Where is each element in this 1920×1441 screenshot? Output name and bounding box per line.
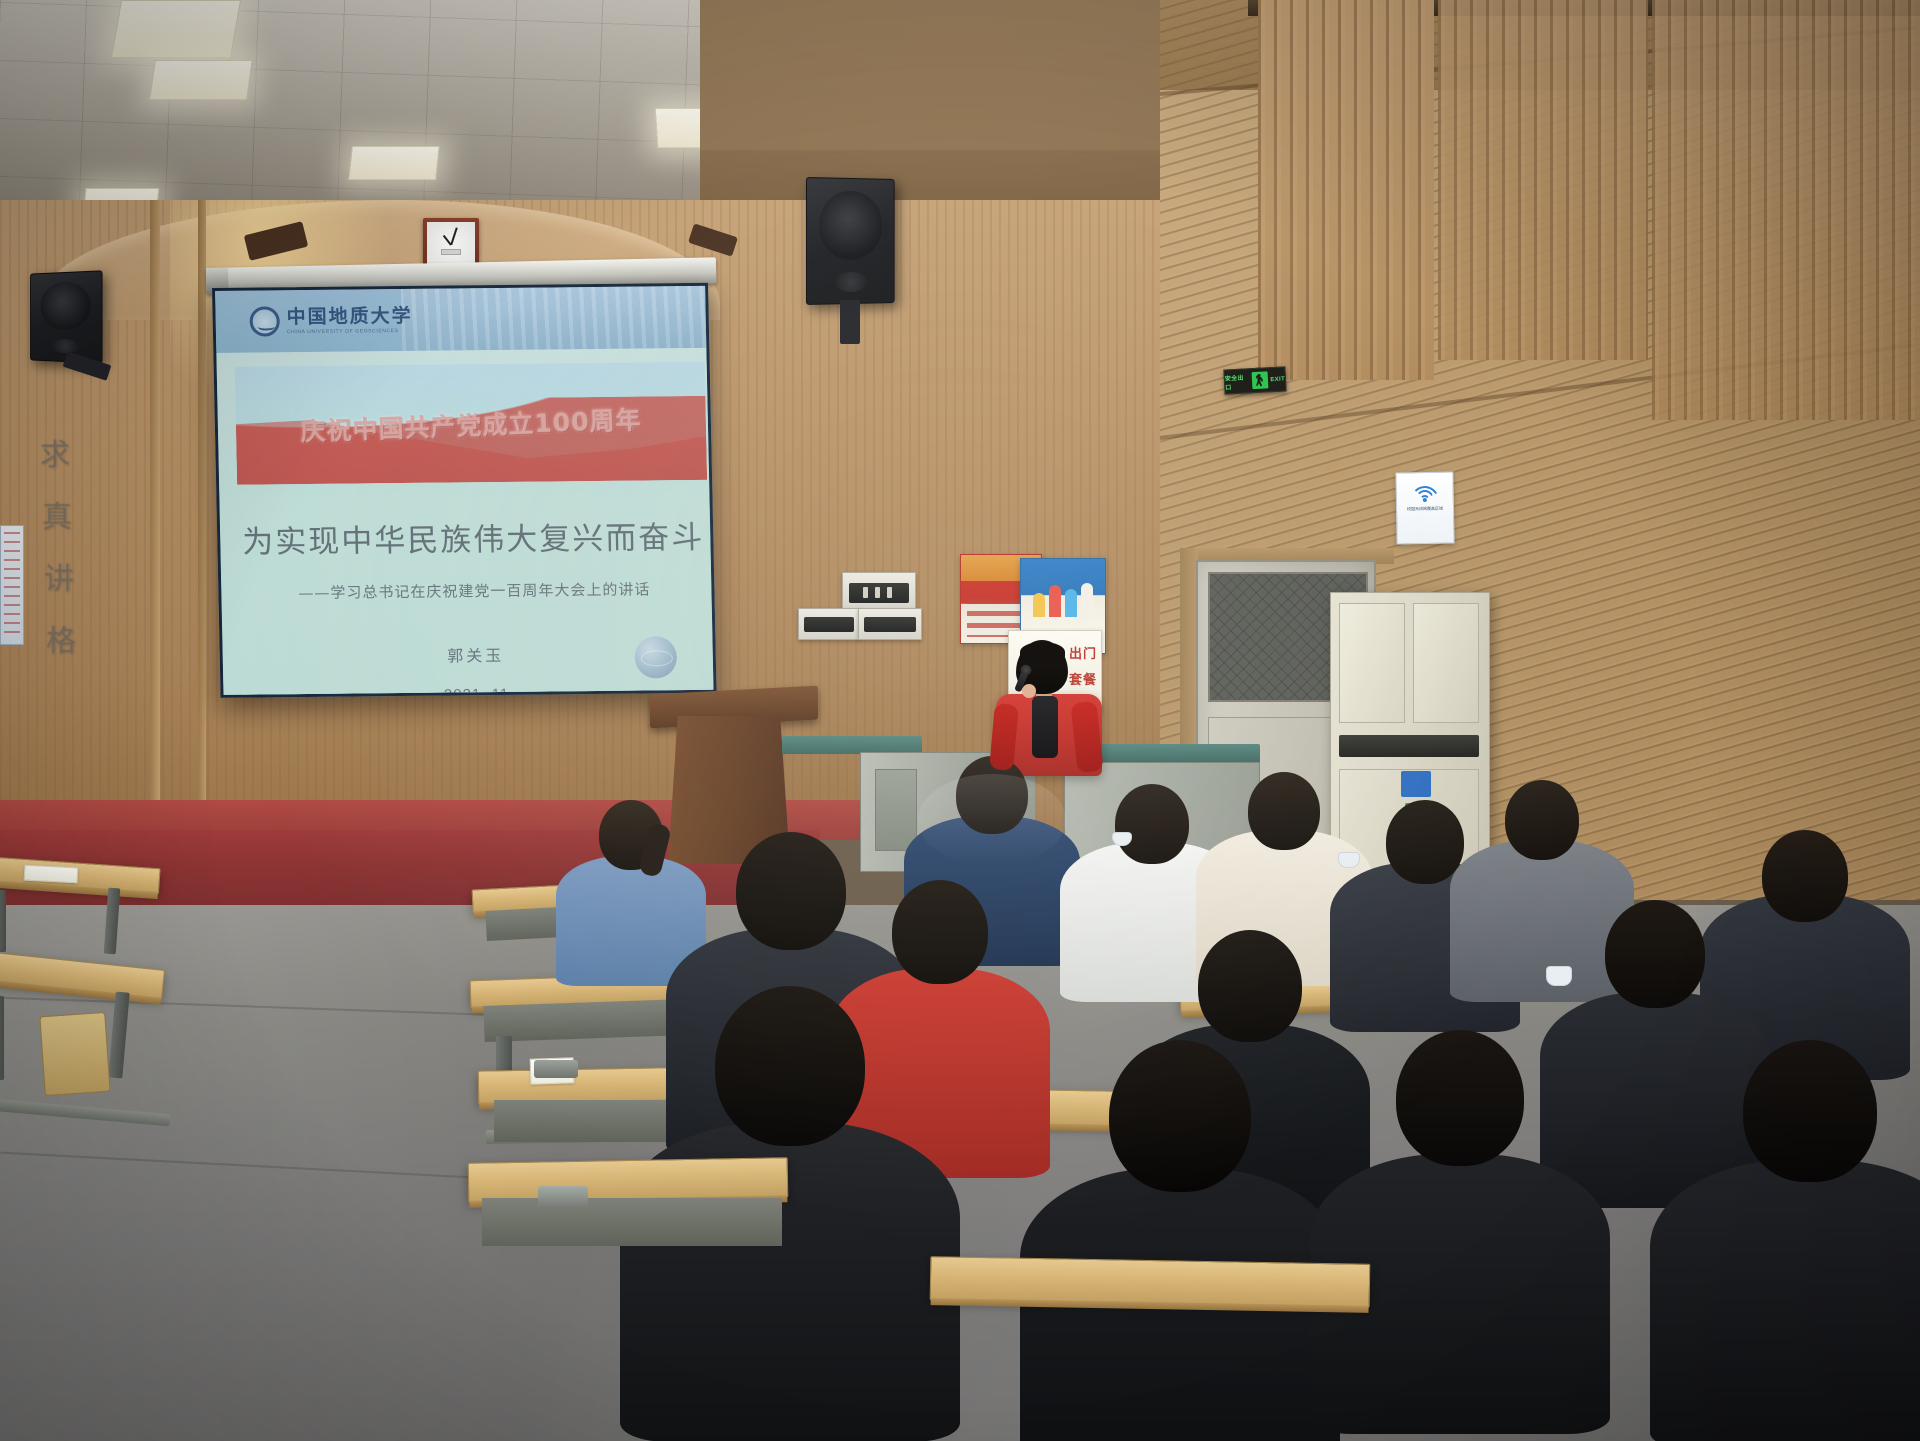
cabinet-door-right[interactable] — [1413, 603, 1479, 723]
exit-sign-label-en: EXIT — [1270, 376, 1285, 383]
poster-figure — [1081, 583, 1093, 617]
chair-backrest[interactable] — [39, 1012, 110, 1096]
projection-screen: 中国地质大学 CHINA UNIVERSITY OF GEOSCIENCES 庆… — [212, 283, 717, 698]
face-mask — [1546, 966, 1572, 986]
audience-member — [1310, 1030, 1610, 1441]
loudspeaker-right — [806, 177, 895, 305]
person-head — [1762, 830, 1848, 922]
slide-subtitle: ——学习总书记在庆祝建党一百周年大会上的讲话 — [239, 578, 709, 604]
ceiling-light — [149, 60, 253, 100]
slide-content-area: 庆祝中国共产党成立100周年 为实现中华民族伟大复兴而奋斗 ——学习总书记在庆祝… — [235, 362, 712, 698]
desk-leg — [0, 996, 4, 1080]
wall-calligraphy-char: 格 — [46, 616, 76, 660]
university-logo-text: 中国地质大学 CHINA UNIVERSITY OF GEOSCIENCES — [286, 306, 413, 334]
exit-sign-label-cn: 安全出口 — [1225, 372, 1251, 391]
person-head — [1743, 1040, 1877, 1182]
person-head — [1505, 780, 1579, 860]
wifi-coverage-poster: 校园无线网覆盖区域 — [1395, 471, 1454, 544]
person-head — [1605, 900, 1705, 1008]
electrical-panel-right — [858, 608, 922, 640]
slide-main-title: 为实现中华民族伟大复兴而奋斗 — [238, 512, 709, 562]
desk-leg — [0, 890, 6, 952]
poster-blue-figures — [1029, 571, 1097, 617]
breaker-switch — [875, 587, 880, 598]
breaker-switch — [887, 587, 892, 598]
university-logo: 中国地质大学 CHINA UNIVERSITY OF GEOSCIENCES — [249, 305, 413, 337]
person-head — [1198, 930, 1302, 1042]
person-head — [1248, 772, 1320, 850]
emergency-exit-sign: 安全出口 EXIT — [1223, 366, 1286, 394]
university-logo-mark-icon — [249, 306, 280, 336]
poster-figure — [1049, 585, 1061, 617]
audience-member — [1020, 1040, 1340, 1441]
notice-board-lines — [4, 532, 20, 638]
notice-board — [0, 525, 24, 645]
person-head — [1115, 784, 1189, 864]
desk-understructure — [482, 1198, 782, 1246]
cabinet-vent-slot — [1339, 735, 1479, 757]
desk-paper — [24, 865, 79, 884]
globe-graphic-icon — [634, 636, 677, 678]
wall-calligraphy-char: 讲 — [44, 554, 74, 598]
wall-trim — [198, 200, 206, 840]
electrical-panel-upper — [842, 572, 916, 612]
person-head — [1109, 1040, 1251, 1192]
audience-member — [1650, 1040, 1920, 1441]
desk-hook — [538, 1186, 588, 1208]
slide-body: 庆祝中国共产党成立100周年 为实现中华民族伟大复兴而奋斗 ——学习总书记在庆祝… — [216, 348, 713, 698]
wall-calligraphy-char: 求 — [40, 430, 70, 474]
breaker-switch — [863, 587, 868, 598]
wall-calligraphy-char: 真 — [42, 492, 72, 536]
university-name-en: CHINA UNIVERSITY OF GEOSCIENCES — [287, 328, 413, 334]
slide-header-band: 中国地质大学 CHINA UNIVERSITY OF GEOSCIENCES — [215, 286, 706, 353]
wifi-dot — [1423, 498, 1427, 502]
ceiling-light — [348, 146, 440, 180]
person-head — [715, 986, 865, 1146]
running-man-exit-icon — [1251, 371, 1269, 389]
cabinet-door-left[interactable] — [1339, 603, 1405, 723]
electrical-panel-left — [798, 608, 860, 640]
face-mask — [1338, 852, 1360, 868]
wall-trim — [150, 200, 160, 840]
person-torso — [1650, 1160, 1920, 1441]
clock-minute-hand — [450, 227, 457, 245]
person-head — [892, 880, 988, 984]
electrical-panel-window — [804, 617, 854, 633]
window-curtain — [1258, 0, 1434, 380]
lecture-hall-photo: 求 真 讲 格 中国地质大学 CHINA UNIVERSITY OF G — [0, 0, 1920, 1441]
desk-hook — [534, 1060, 578, 1078]
cabinet-badge-blue — [1401, 771, 1431, 797]
poster-figure — [1065, 589, 1077, 617]
wifi-poster-label: 校园无线网覆盖区域 — [1407, 506, 1443, 513]
presenter-speaker — [990, 640, 1120, 775]
university-name-cn: 中国地质大学 — [286, 306, 412, 326]
clock-subdial — [441, 249, 461, 255]
desk-row-front — [468, 1157, 789, 1203]
person-highlight — [918, 774, 1066, 866]
clock-face — [427, 222, 475, 266]
presenter-hand — [1022, 684, 1036, 698]
speaker-bracket — [840, 300, 860, 344]
electrical-panel-window — [864, 617, 916, 633]
slide-header-photo — [401, 286, 706, 351]
poster-figure — [1033, 593, 1045, 617]
ceiling-light — [111, 0, 241, 58]
wifi-icon — [1409, 478, 1439, 503]
person-head — [1396, 1030, 1524, 1166]
presenter-fringe — [1020, 642, 1065, 662]
loudspeaker-left — [30, 270, 102, 363]
presenter-inner-top — [1032, 696, 1058, 758]
desk-row-front — [930, 1256, 1371, 1308]
window-curtain — [1652, 0, 1920, 420]
window-curtain — [1438, 0, 1648, 360]
